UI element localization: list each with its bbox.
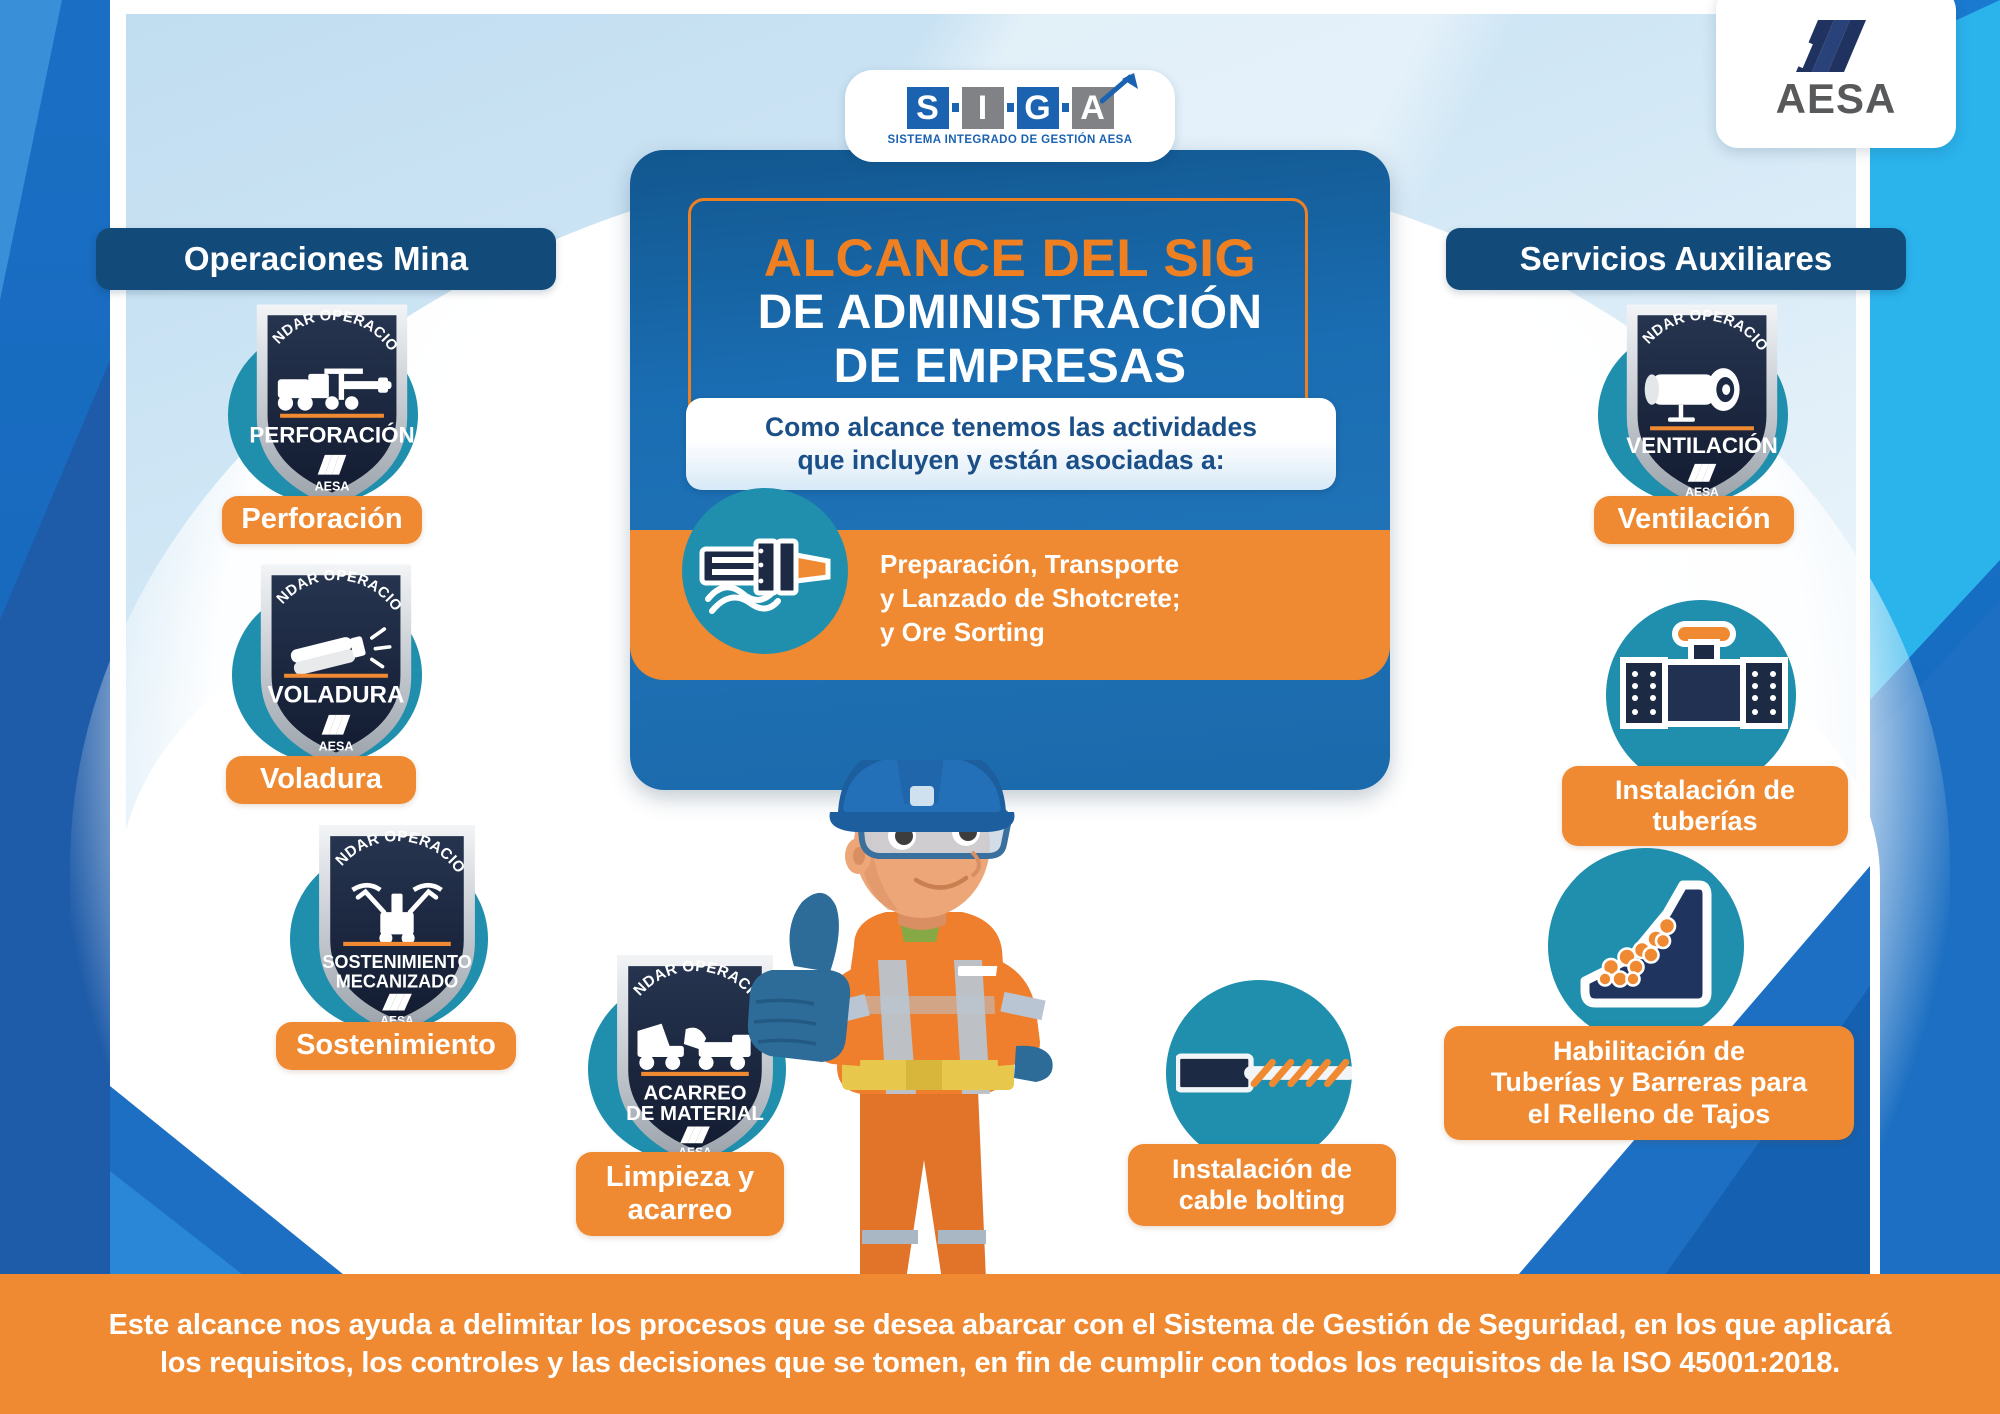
siga-letter-s: S	[907, 87, 949, 129]
pipe-valve-circle	[1606, 600, 1796, 790]
backfill-barrier-icon	[1571, 871, 1721, 1021]
scope-title-line1: ALCANCE DEL SIG	[630, 230, 1390, 287]
label-line1: Instalación de	[1615, 775, 1795, 806]
top-white-strip	[110, 0, 1870, 14]
scope-subtitle-card: Como alcance tenemos las actividades que…	[686, 398, 1336, 490]
siga-letter-g: G	[1017, 87, 1059, 129]
badge-title-line1: SOSTENIMIENTO	[322, 952, 471, 972]
aesa-wordmark: AESA	[1776, 78, 1897, 120]
backfill-barrier-circle	[1548, 848, 1744, 1044]
siga-link-3	[1062, 103, 1069, 112]
growth-arrow-icon	[1100, 71, 1140, 105]
footer-bar: Este alcance nos ayuda a delimitar los p…	[0, 1274, 2000, 1414]
label-line1: Habilitación de	[1553, 1036, 1745, 1067]
siga-link-2	[1007, 103, 1014, 112]
scope-subtitle-text: Como alcance tenemos las actividades que…	[765, 411, 1257, 477]
shield-sostenimiento: ESTÁNDAR OPERACIONAL SOSTENIMIENTO MECAN…	[304, 812, 490, 1042]
aesa-logo-card: AESA	[1716, 0, 1956, 148]
badge-title: VENTILACIÓN	[1626, 433, 1778, 458]
siga-subtitle: SISTEMA INTEGRADO DE GESTIÓN AESA	[888, 134, 1133, 146]
label-line2: Tuberías y Barreras para	[1491, 1067, 1807, 1098]
label-instalacion-cable-bolting: Instalación de cable bolting	[1128, 1144, 1396, 1226]
cable-bolt-icon	[1176, 1023, 1352, 1123]
shotcrete-nozzle-icon	[690, 511, 840, 631]
item-instalacion-cable-bolting[interactable]: Instalación de cable bolting	[1158, 980, 1408, 1210]
badge-brand: AESA	[315, 480, 350, 494]
label-line2: cable bolting	[1179, 1185, 1346, 1216]
badge-perforacion[interactable]: ESTÁNDAR OPERACIONAL PERFORACIÓN AESA	[228, 300, 428, 500]
label-line2: tuberías	[1652, 806, 1757, 837]
highlight-line3: y Ore Sorting	[880, 616, 1360, 650]
siga-link-1	[952, 103, 959, 112]
badge-ventilacion[interactable]: ESTÁNDAR OPERACIONAL VENTILACIÓN AESA Ve…	[1598, 300, 1798, 500]
shotcrete-icon-circle	[682, 488, 848, 654]
aesa-mountain-mark-icon	[1790, 16, 1882, 76]
badge-title-line2: MECANIZADO	[336, 971, 459, 991]
badge-label-sostenimiento: Sostenimiento	[276, 1022, 516, 1070]
item-habilitacion-tuberias-barreras[interactable]: Habilitación de Tuberías y Barreras para…	[1528, 848, 1788, 1118]
badge-title: VOLADURA	[268, 681, 405, 708]
label-habilitacion-tuberias-barreras: Habilitación de Tuberías y Barreras para…	[1444, 1026, 1854, 1140]
shield-voladura: ESTÁNDAR OPERACIONAL VOLADURA	[246, 552, 426, 774]
shield-perforacion: ESTÁNDAR OPERACIONAL PERFORACIÓN AESA	[242, 292, 422, 514]
highlight-line2: y Lanzado de Shotcrete;	[880, 582, 1360, 616]
miner-thumbs-up-character	[710, 760, 1130, 1300]
badge-title: PERFORACIÓN	[249, 422, 414, 447]
thumbs-up-glove	[748, 893, 850, 1062]
badge-brand: AESA	[319, 740, 354, 754]
scope-subtitle-line1: Como alcance tenemos las actividades	[765, 412, 1257, 442]
badge-label-ventilacion: Ventilación	[1594, 496, 1794, 544]
badge-label-voladura: Voladura	[226, 756, 416, 804]
badge-label-perforacion: Perforación	[222, 496, 422, 544]
scope-highlight-text: Preparación, Transporte y Lanzado de Sho…	[880, 548, 1360, 649]
siga-logo-card: S I G A SISTEMA INTEGRADO DE GESTIÓN AES…	[845, 70, 1175, 162]
scope-title-line2: DE ADMINISTRACIÓN	[630, 287, 1390, 340]
label-instalacion-tuberias: Instalación de tuberías	[1562, 766, 1848, 846]
label-line3: el Relleno de Tajos	[1528, 1099, 1771, 1130]
scope-panel: ALCANCE DEL SIG DE ADMINISTRACIÓN DE EMP…	[630, 150, 1390, 790]
scope-subtitle-line2: que incluyen y están asociadas a:	[797, 445, 1224, 475]
category-header-operaciones-mina: Operaciones Mina	[96, 228, 556, 290]
shield-ventilacion: ESTÁNDAR OPERACIONAL VENTILACIÓN AESA	[1612, 292, 1792, 514]
highlight-line1: Preparación, Transporte	[880, 548, 1360, 582]
pipe-valve-icon	[1613, 620, 1789, 770]
label-line1: Instalación de	[1172, 1154, 1352, 1185]
category-header-servicios-auxiliares: Servicios Auxiliares	[1446, 228, 1906, 290]
scope-title-line3: DE EMPRESAS	[630, 340, 1390, 394]
footer-text: Este alcance nos ayuda a delimitar los p…	[105, 1306, 1895, 1383]
cable-bolt-circle	[1166, 980, 1352, 1166]
siga-letter-group: S I G A	[907, 87, 1114, 129]
badge-sostenimiento[interactable]: ESTÁNDAR OPERACIONAL SOSTENIMIENTO MECAN…	[290, 818, 500, 1028]
badge-voladura[interactable]: ESTÁNDAR OPERACIONAL VOLADURA	[232, 560, 432, 760]
infographic-canvas: AESA S I G A SISTEMA INTEGRADO DE GESTIÓ…	[0, 0, 2000, 1414]
siga-letter-i: I	[962, 87, 1004, 129]
item-instalacion-tuberias[interactable]: Instalación de tuberías	[1596, 590, 1826, 830]
